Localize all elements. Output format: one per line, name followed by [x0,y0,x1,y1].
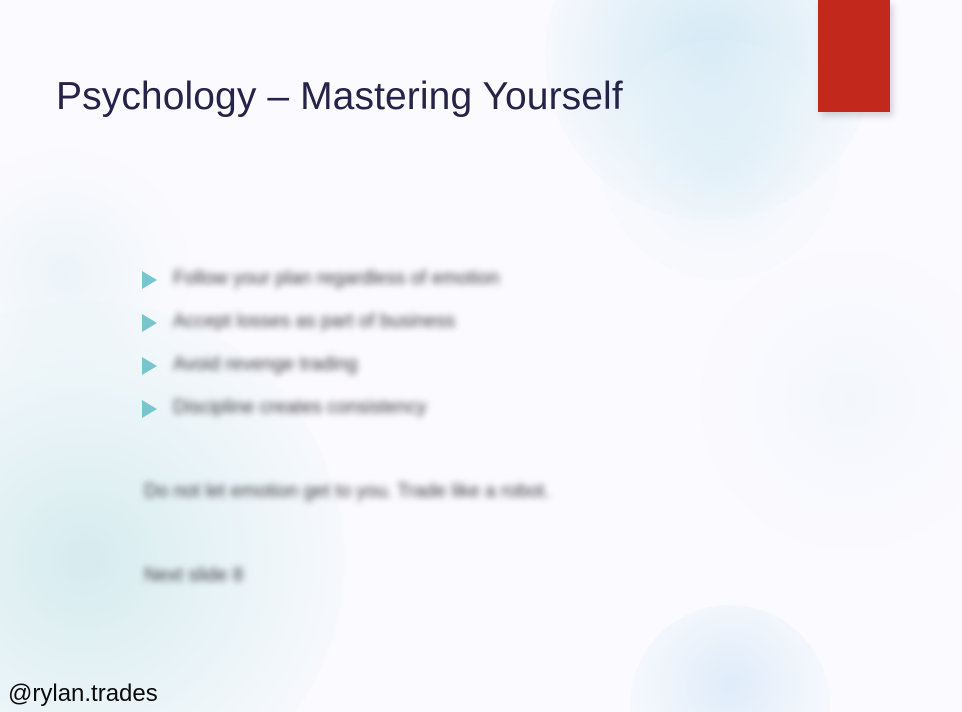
list-item: Avoid revenge trading [142,352,762,395]
triangle-right-icon [142,400,157,418]
page-title: Psychology – Mastering Yourself [56,72,623,122]
slide-canvas: Psychology – Mastering Yourself Follow y… [0,0,962,712]
watermark-handle: @rylan.trades [8,680,158,708]
next-slide-label: Next slide 8 [144,563,243,589]
triangle-right-icon [142,271,157,289]
accent-rectangle [818,0,890,112]
bullet-text: Follow your plan regardless of emotion [173,266,499,292]
bullet-text: Discipline creates consistency [173,395,426,421]
background-blob-top-right-secondary [600,40,840,280]
bullet-text: Avoid revenge trading [173,352,358,378]
list-item: Follow your plan regardless of emotion [142,266,762,309]
list-item: Discipline creates consistency [142,395,762,438]
bullet-text: Accept losses as part of business [173,309,455,335]
bullet-list: Follow your plan regardless of emotion A… [142,266,762,438]
background-blob-bottom-right [630,605,830,712]
summary-note: Do not let emotion get to you. Trade lik… [144,479,550,505]
triangle-right-icon [142,314,157,332]
list-item: Accept losses as part of business [142,309,762,352]
triangle-right-icon [142,357,157,375]
